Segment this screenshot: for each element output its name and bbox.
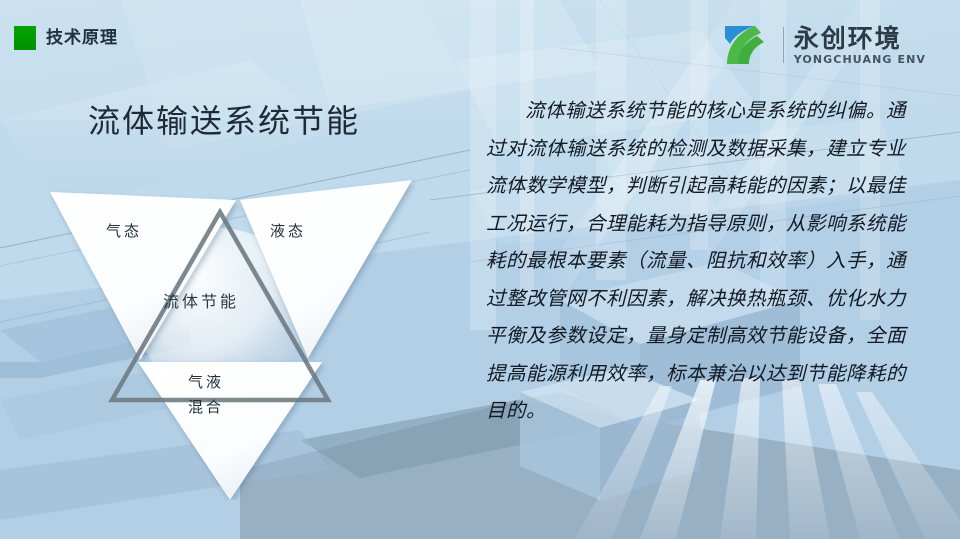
logo-divider [783,27,784,63]
diagram-label-liquid: 液态 [270,220,306,241]
slide-header: 技术原理 永创环境 YONGCHUANG ENV [0,0,960,72]
logo-name-en: YONGCHUANG ENV [794,53,926,66]
page-title: 技术原理 [46,26,118,50]
logo-name-cn: 永创环境 [794,25,926,52]
slide: 技术原理 永创环境 YONGCHUANG ENV 流体输送系统节能 [0,0,960,539]
diagram-label-mix: 气液 混合 [188,370,224,420]
triangle-mix [138,362,322,500]
diagram-label-mix-line2: 混合 [188,395,224,420]
logo-leaf-icon [721,22,777,68]
section-headline: 流体输送系统节能 [88,100,360,142]
body-paragraph: 流体输送系统节能的核心是系统的纠偏。通过对流体输送系统的检测及数据采集，建立专业… [486,92,906,430]
diagram-label-center: 流体节能 [163,288,239,312]
diagram-label-gas: 气态 [106,220,142,241]
header-accent-square [14,26,36,50]
diagram-label-mix-line1: 气液 [188,370,224,395]
fluid-energy-diagram: 气态 液态 流体节能 气液 混合 [40,170,440,500]
company-logo: 永创环境 YONGCHUANG ENV [721,20,926,70]
